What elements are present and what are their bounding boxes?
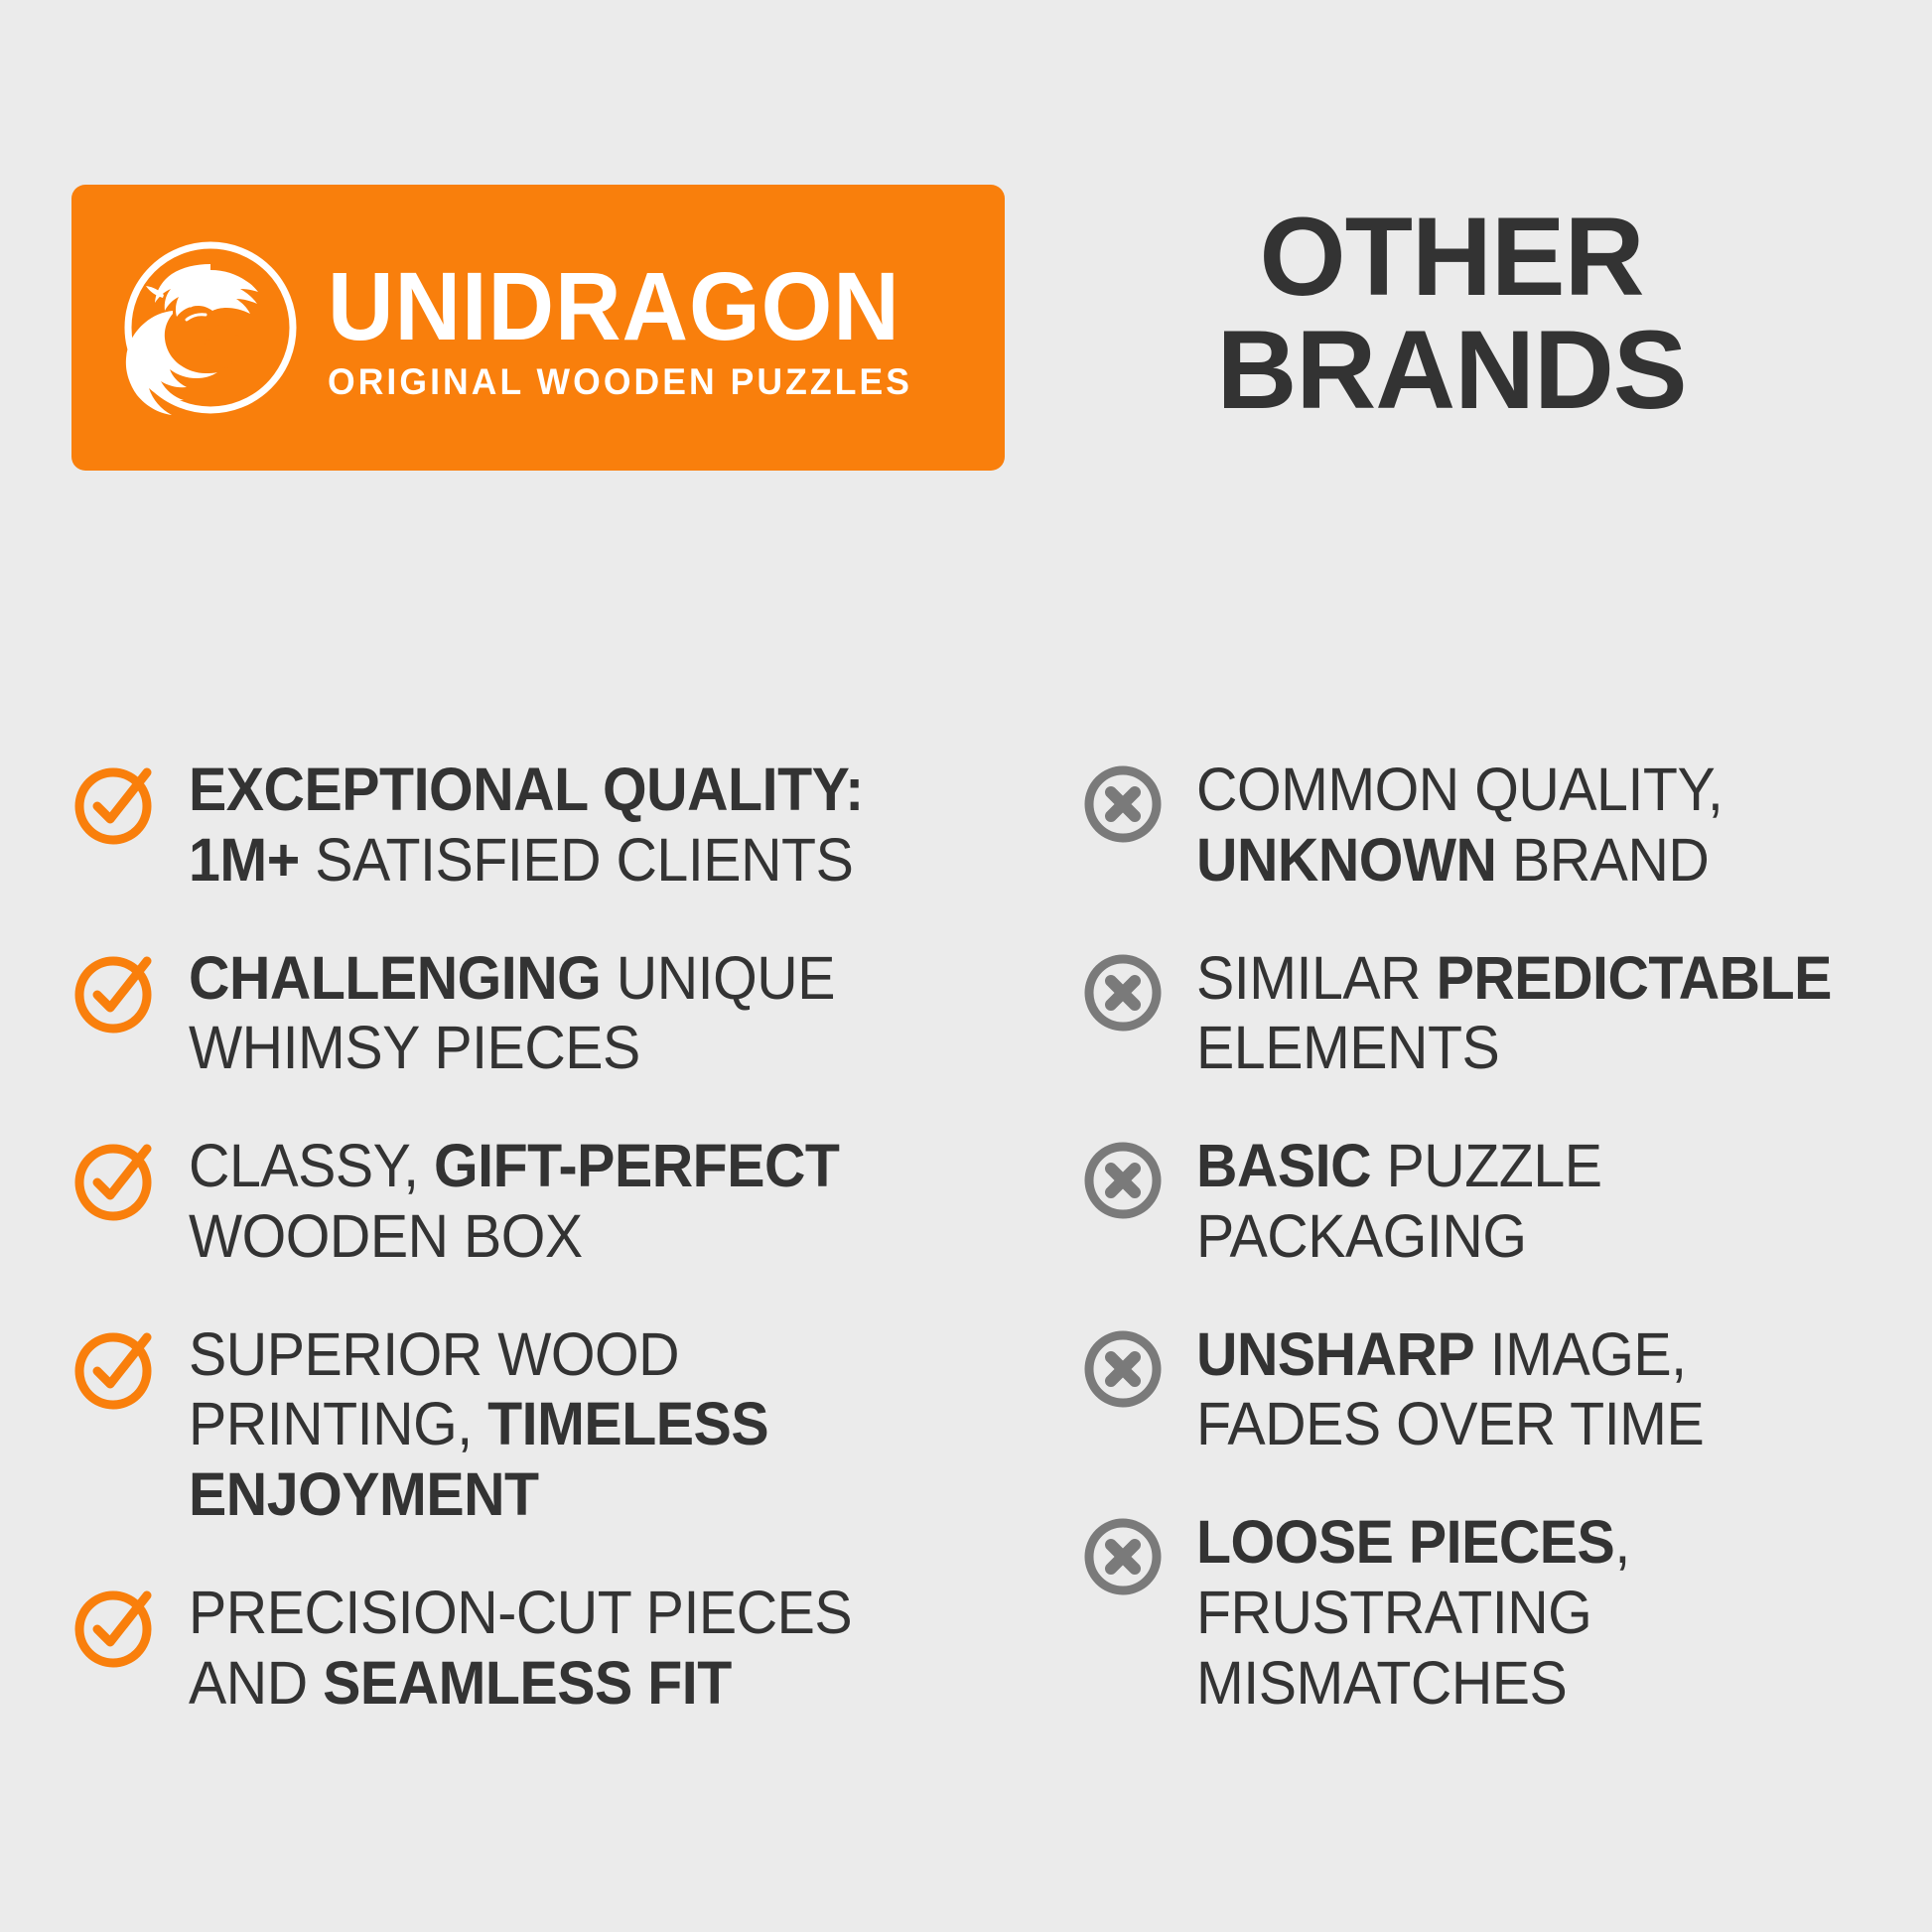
comparison-item-text: CHALLENGING UNIQUE WHIMSY PIECES: [189, 943, 954, 1084]
comparison-row: UNSHARP IMAGE, FADES OVER TIME: [1077, 1319, 1901, 1460]
comparison-item-text: CLASSY, GIFT-PERFECT WOODEN BOX: [189, 1131, 954, 1272]
check-circle-icon: [69, 1582, 161, 1673]
comparison-item-text: SUPERIOR WOOD PRINTING, TIMELESS ENJOYME…: [189, 1319, 954, 1530]
x-circle-icon: [1077, 1323, 1169, 1415]
unidragon-benefits-column: EXCEPTIONAL QUALITY: 1M+ SATISFIED CLIEN…: [69, 755, 1003, 1769]
other-brands-line-2: BRANDS: [1005, 314, 1898, 427]
comparison-item-text: EXCEPTIONAL QUALITY: 1M+ SATISFIED CLIEN…: [189, 755, 954, 896]
comparison-item-text: UNSHARP IMAGE, FADES OVER TIME: [1196, 1319, 1859, 1460]
x-circle-icon: [1077, 947, 1169, 1038]
comparison-row: BASIC PUZZLE PACKAGING: [1077, 1131, 1901, 1272]
comparison-row: SIMILAR PREDICTABLE ELEMENTS: [1077, 943, 1901, 1084]
check-circle-icon: [69, 947, 161, 1038]
other-brands-drawbacks-column: COMMON QUALITY, UNKNOWN BRANDSIMILAR PRE…: [1077, 755, 1901, 1769]
brand-name: UNIDRAGON: [328, 259, 906, 353]
dragon-circle-emblem-icon: [119, 236, 302, 419]
x-circle-icon: [1077, 1135, 1169, 1226]
comparison-row: LOOSE PIECES, FRUSTRATING MISMATCHES: [1077, 1507, 1901, 1718]
comparison-row: COMMON QUALITY, UNKNOWN BRAND: [1077, 755, 1901, 896]
comparison-row: CHALLENGING UNIQUE WHIMSY PIECES: [69, 943, 1003, 1084]
comparison-item-text: PRECISION-CUT PIECES AND SEAMLESS FIT: [189, 1578, 954, 1719]
comparison-row: PRECISION-CUT PIECES AND SEAMLESS FIT: [69, 1578, 1003, 1719]
comparison-item-text: SIMILAR PREDICTABLE ELEMENTS: [1196, 943, 1859, 1084]
x-circle-icon: [1077, 1511, 1169, 1602]
comparison-row: CLASSY, GIFT-PERFECT WOODEN BOX: [69, 1131, 1003, 1272]
comparison-item-text: LOOSE PIECES, FRUSTRATING MISMATCHES: [1196, 1507, 1859, 1718]
comparison-item-text: BASIC PUZZLE PACKAGING: [1196, 1131, 1859, 1272]
comparison-row: SUPERIOR WOOD PRINTING, TIMELESS ENJOYME…: [69, 1319, 1003, 1530]
other-brands-heading: OTHER BRANDS: [1005, 201, 1898, 427]
comparison-item-text: COMMON QUALITY, UNKNOWN BRAND: [1196, 755, 1859, 896]
check-circle-icon: [69, 759, 161, 850]
unidragon-logo-banner: UNIDRAGON ORIGINAL WOODEN PUZZLES: [71, 185, 1005, 471]
header: UNIDRAGON ORIGINAL WOODEN PUZZLES OTHER …: [0, 185, 1932, 479]
other-brands-line-1: OTHER: [1005, 201, 1898, 314]
check-circle-icon: [69, 1323, 161, 1415]
check-circle-icon: [69, 1135, 161, 1226]
brand-tagline: ORIGINAL WOODEN PUZZLES: [328, 363, 912, 400]
logo-wordmark: UNIDRAGON ORIGINAL WOODEN PUZZLES: [328, 255, 937, 399]
comparison-infographic: UNIDRAGON ORIGINAL WOODEN PUZZLES OTHER …: [0, 0, 1932, 1932]
comparison-row: EXCEPTIONAL QUALITY: 1M+ SATISFIED CLIEN…: [69, 755, 1003, 896]
x-circle-icon: [1077, 759, 1169, 850]
